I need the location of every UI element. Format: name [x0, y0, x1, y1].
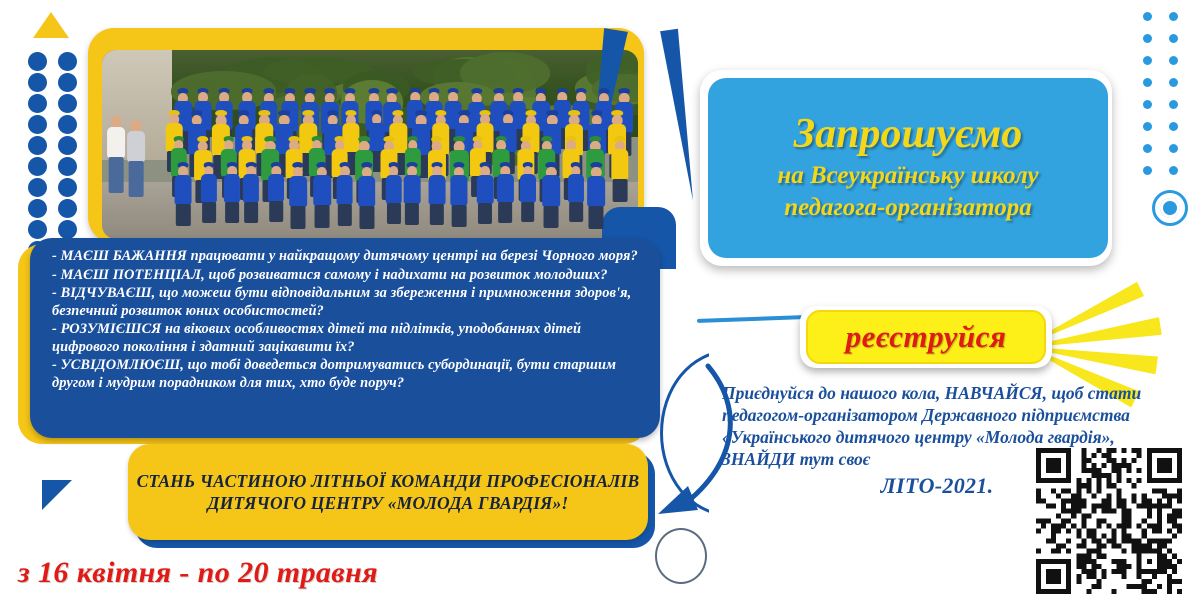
- shirt: [404, 175, 421, 205]
- person: [588, 162, 606, 220]
- dot: [1169, 166, 1178, 175]
- person: [404, 162, 421, 217]
- heading-line-3: педагога-організатора: [784, 194, 1032, 223]
- legs: [499, 202, 513, 223]
- legs: [225, 202, 239, 223]
- question-item: - ВІДЧУВАЄШ, що можеш бути відповідальни…: [52, 285, 644, 320]
- dot: [1169, 34, 1178, 43]
- qr-code-image: [1036, 448, 1182, 594]
- shirt: [224, 174, 240, 203]
- question-list: - МАЄШ БАЖАННЯ працювати у найкращому ди…: [52, 248, 644, 393]
- dot: [28, 220, 47, 239]
- person: [243, 162, 259, 215]
- shirt: [520, 174, 536, 202]
- dot-grid-right: [1143, 12, 1195, 188]
- dot: [1169, 122, 1178, 131]
- question-item: - РОЗУМІЄШСЯ на вікових особливостях діт…: [52, 321, 644, 356]
- dot: [58, 178, 77, 197]
- person: [497, 162, 513, 215]
- dot: [58, 94, 77, 113]
- legs: [290, 206, 305, 229]
- dot: [28, 199, 47, 218]
- legs: [405, 203, 419, 225]
- shirt: [336, 175, 353, 205]
- dot: [58, 220, 77, 239]
- person: [175, 162, 192, 218]
- dot: [1143, 12, 1152, 21]
- dot: [58, 136, 77, 155]
- dot: [28, 73, 47, 92]
- dot: [1143, 34, 1152, 43]
- sun-ray-3-icon: [1039, 340, 1158, 374]
- dot: [1143, 144, 1152, 153]
- dot: [28, 52, 47, 71]
- shirt: [268, 174, 284, 202]
- shirt: [429, 175, 446, 205]
- legs: [202, 202, 216, 223]
- photo-card: [88, 28, 644, 243]
- poster-canvas: - МАЄШ БАЖАННЯ працювати у найкращому ди…: [0, 0, 1200, 600]
- dot: [58, 52, 77, 71]
- legs: [521, 202, 535, 223]
- person: [201, 162, 217, 215]
- curved-arrow-icon: [630, 358, 770, 538]
- register-button[interactable]: реєструйся: [806, 310, 1046, 364]
- dot: [1169, 100, 1178, 109]
- dot: [28, 136, 47, 155]
- dot: [58, 115, 77, 134]
- shirt: [107, 127, 125, 159]
- dot: [28, 94, 47, 113]
- call-banner: СТАНЬ ЧАСТИНОЮ ЛІТНЬОЇ КОМАНДИ ПРОФЕСІОН…: [128, 444, 648, 540]
- legs: [387, 203, 401, 224]
- legs: [129, 161, 144, 197]
- shirt: [127, 131, 145, 163]
- person: [313, 162, 331, 220]
- dot: [58, 73, 77, 92]
- shirt: [201, 174, 217, 203]
- shirt: [497, 174, 513, 203]
- legs: [270, 201, 284, 222]
- dot: [1143, 100, 1152, 109]
- dot: [58, 199, 77, 218]
- shirt: [313, 175, 331, 206]
- shirt: [385, 175, 402, 204]
- person: [336, 162, 353, 218]
- dot: [1143, 166, 1152, 175]
- blue-line-divider: [697, 315, 805, 323]
- legs: [315, 205, 330, 228]
- dot: [1169, 144, 1178, 153]
- sun-ray-2-icon: [1039, 317, 1162, 354]
- person: [611, 136, 628, 193]
- heading-card: Запрошуємо на Всеукраїнську школу педаго…: [708, 78, 1108, 258]
- call-banner-text: СТАНЬ ЧАСТИНОЮ ЛІТНЬОЇ КОМАНДИ ПРОФЕСІОН…: [128, 470, 648, 514]
- question-item: - УСВІДОМЛЮЄШ, що тобі доведеться дотрим…: [52, 357, 644, 392]
- shirt: [543, 175, 561, 206]
- legs: [569, 202, 583, 223]
- photo-frame: [102, 50, 638, 239]
- legs: [109, 157, 124, 193]
- person: [477, 162, 494, 217]
- triangle-blue-icon: [42, 480, 72, 510]
- person: [520, 162, 536, 215]
- person: [543, 162, 561, 220]
- date-range-text: з 16 квітня - по 20 травня: [18, 556, 378, 590]
- shirt: [175, 175, 192, 205]
- dot: [28, 157, 47, 176]
- shirt: [243, 174, 259, 203]
- legs: [478, 203, 492, 224]
- person: [268, 162, 284, 215]
- person: [385, 162, 402, 217]
- dot: [1169, 78, 1178, 87]
- shirt: [289, 176, 307, 207]
- dot: [58, 157, 77, 176]
- triangle-yellow-icon: [33, 12, 69, 38]
- dot-grid-left: [28, 52, 88, 262]
- dot: [1143, 56, 1152, 65]
- dot: [1143, 122, 1152, 131]
- legs: [430, 204, 444, 226]
- person: [429, 162, 446, 218]
- shirt: [588, 176, 606, 207]
- dot: [1143, 78, 1152, 87]
- person: [224, 162, 240, 215]
- dot: [1169, 12, 1178, 21]
- dot: [1169, 56, 1178, 65]
- dot: [28, 178, 47, 197]
- legs: [613, 179, 628, 202]
- person: [450, 162, 467, 219]
- person: [289, 162, 307, 220]
- question-item: - МАЄШ ПОТЕНЦІАЛ, щоб розвиватися самому…: [52, 267, 644, 285]
- shirt: [568, 174, 584, 202]
- person: [358, 162, 376, 220]
- register-button-label: реєструйся: [846, 319, 1007, 355]
- legs: [589, 206, 604, 229]
- legs: [544, 206, 559, 229]
- question-box: - МАЄШ БАЖАННЯ працювати у найкращому ди…: [30, 238, 660, 438]
- person: [568, 162, 584, 215]
- legs: [244, 202, 258, 223]
- legs: [176, 204, 190, 226]
- shirt: [611, 149, 628, 180]
- shirt: [358, 176, 376, 207]
- blue-ray-right-icon: [660, 29, 702, 202]
- legs: [337, 204, 351, 226]
- dot: [28, 115, 47, 134]
- ring-target-icon: [1152, 190, 1188, 226]
- qr-code[interactable]: [1036, 448, 1182, 594]
- heading-line-1: Запрошуємо: [794, 113, 1023, 156]
- shirt: [477, 175, 494, 204]
- group-photo: [102, 50, 638, 239]
- shirt: [450, 175, 467, 206]
- legs: [451, 205, 466, 227]
- question-item: - МАЄШ БАЖАННЯ працювати у найкращому ди…: [52, 248, 644, 266]
- heading-line-2: на Всеукраїнську школу: [777, 162, 1038, 191]
- legs: [359, 206, 374, 229]
